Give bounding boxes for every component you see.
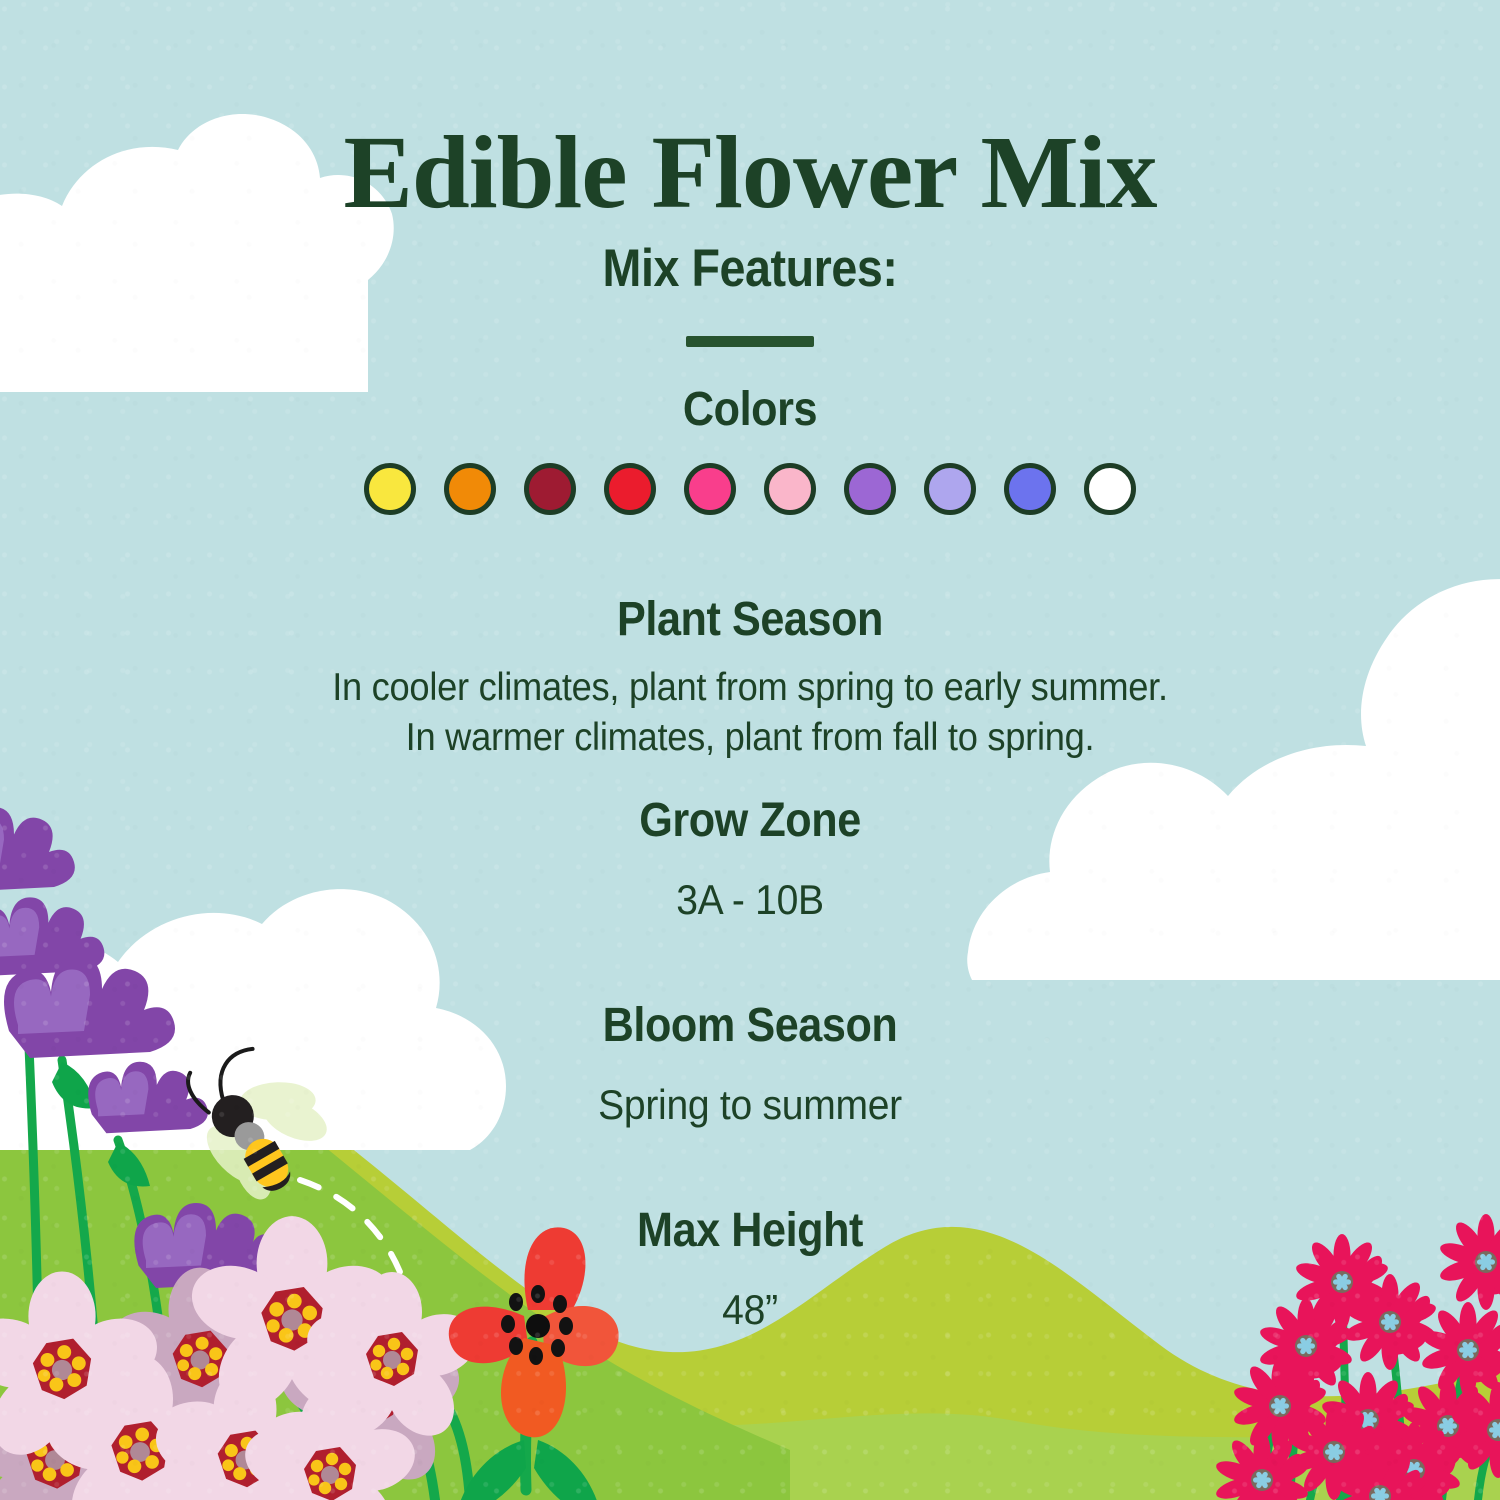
color-swatch-periwinkle — [1004, 463, 1056, 515]
max-height-heading: Max Height — [75, 1203, 1425, 1258]
colors-heading: Colors — [75, 382, 1425, 437]
plant-season-line-2: In warmer climates, plant from fall to s… — [53, 713, 1448, 763]
color-swatch-white — [1084, 463, 1136, 515]
color-swatch-row — [0, 463, 1500, 515]
color-swatch-light-purple — [924, 463, 976, 515]
color-swatch-yellow — [364, 463, 416, 515]
grow-zone-value: 3A - 10B — [53, 873, 1448, 927]
plant-season-body: In cooler climates, plant from spring to… — [53, 663, 1448, 763]
card-content: Edible Flower Mix Mix Features: Colors P… — [0, 0, 1500, 1500]
color-swatch-red — [604, 463, 656, 515]
color-swatch-light-pink — [764, 463, 816, 515]
bloom-season-value: Spring to summer — [53, 1078, 1448, 1132]
color-swatch-purple — [844, 463, 896, 515]
bloom-season-heading: Bloom Season — [75, 998, 1425, 1053]
max-height-value: 48” — [53, 1283, 1448, 1337]
infographic-card: Edible Flower Mix Mix Features: Colors P… — [0, 0, 1500, 1500]
grow-zone-heading: Grow Zone — [75, 793, 1425, 848]
color-swatch-dark-red — [524, 463, 576, 515]
page-title: Edible Flower Mix — [0, 118, 1500, 227]
plant-season-heading: Plant Season — [75, 592, 1425, 647]
plant-season-line-1: In cooler climates, plant from spring to… — [53, 663, 1448, 713]
divider-rule — [686, 336, 814, 347]
color-swatch-hot-pink — [684, 463, 736, 515]
color-swatch-orange — [444, 463, 496, 515]
mix-features-subtitle: Mix Features: — [90, 238, 1410, 299]
